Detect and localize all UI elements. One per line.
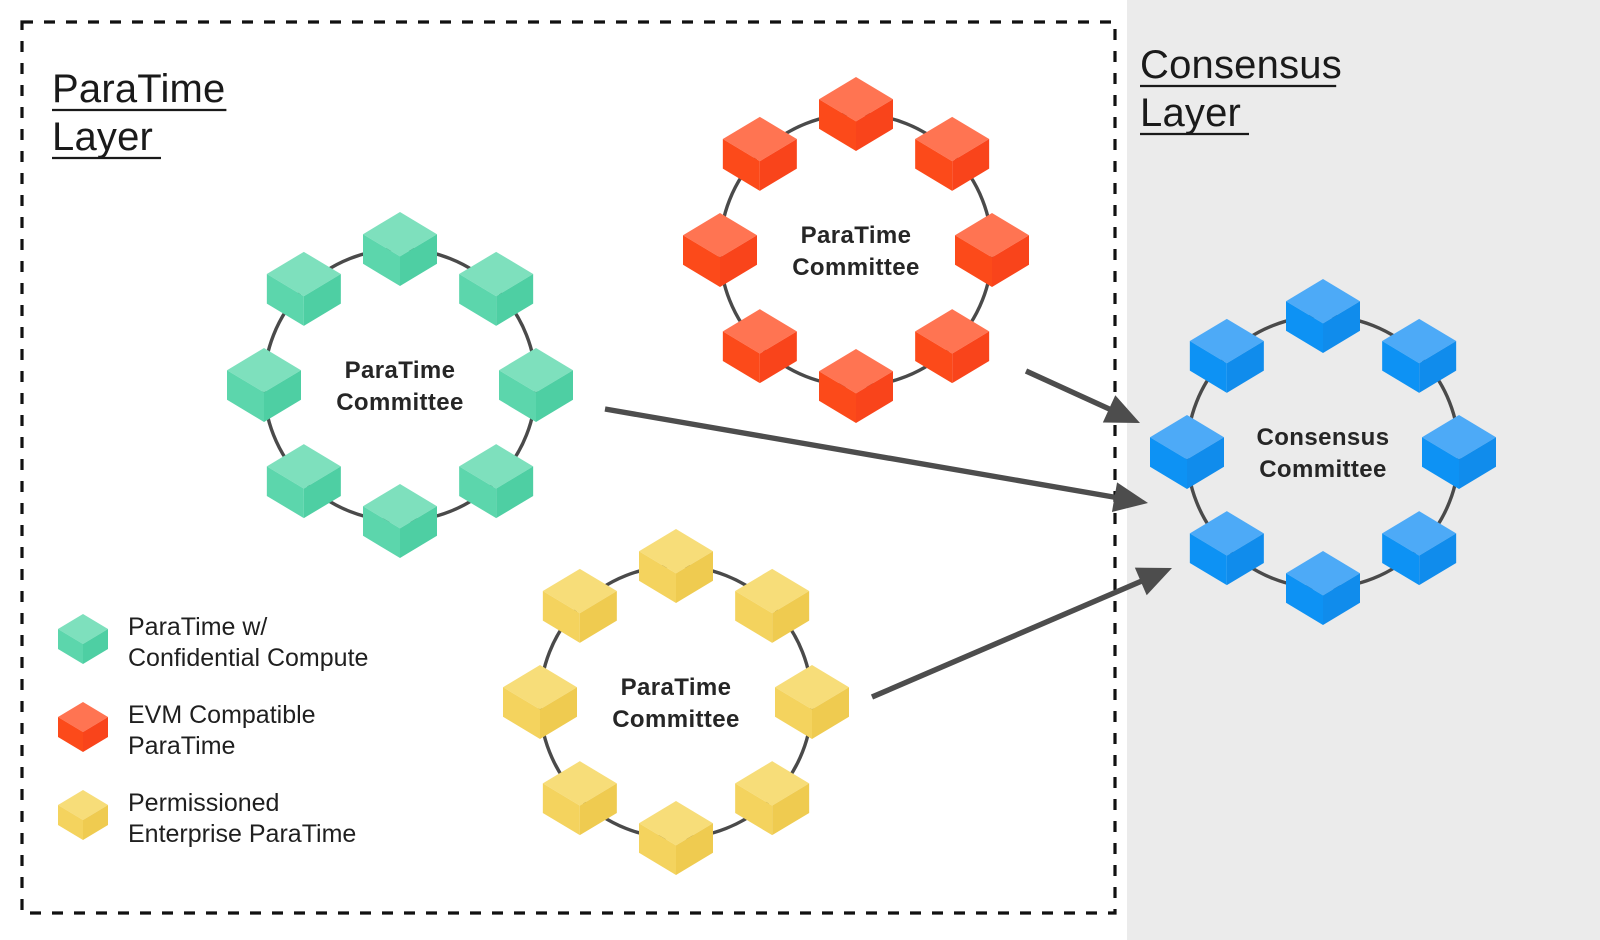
committee-node-cube [639, 801, 713, 875]
committee-node-cube [639, 529, 713, 603]
committee-node-cube [363, 212, 437, 286]
committee-label-consensus: Committee [1259, 456, 1387, 483]
committee-node-cube [459, 252, 533, 326]
committee-paratime-confidential: ParaTimeCommittee [227, 212, 573, 558]
consensus-layer-title-line: Layer [1140, 91, 1241, 135]
oasis-network-architecture-diagram: ParaTimeLayerConsensusLayer ParaTimeComm… [0, 0, 1600, 940]
legend-confidential-label: ParaTime w/ [128, 613, 267, 641]
legend-evm-swatch [58, 702, 108, 752]
legend: ParaTime w/Confidential ComputeEVM Compa… [58, 613, 368, 848]
legend-permissioned: PermissionedEnterprise ParaTime [58, 789, 356, 848]
committee-label-paratime-evm: ParaTime [801, 222, 912, 249]
arrows [605, 371, 1172, 697]
committee-label-paratime-permissioned: ParaTime [621, 674, 732, 701]
committee-label-paratime-evm: Committee [792, 254, 920, 281]
paratime-layer-title: ParaTimeLayer [52, 67, 226, 159]
legend-permissioned-label: Enterprise ParaTime [128, 820, 356, 848]
committee-label-paratime-confidential: ParaTime [345, 357, 456, 384]
consensus-layer-title-line: Consensus [1140, 43, 1342, 87]
legend-evm: EVM CompatibleParaTime [58, 701, 316, 760]
arrow-permissioned-to-consensus-shaft [872, 580, 1144, 697]
committee-node-cube [499, 348, 573, 422]
committee-node-cube [723, 117, 797, 191]
committee-paratime-evm: ParaTimeCommittee [683, 77, 1029, 423]
legend-confidential-swatch [58, 614, 108, 664]
committee-node-cube [363, 484, 437, 558]
committee-node-cube [915, 117, 989, 191]
committee-node-cube [227, 348, 301, 422]
arrow-confidential-to-consensus [605, 409, 1148, 512]
committee-node-cube [543, 761, 617, 835]
committee-node-cube [459, 444, 533, 518]
legend-permissioned-label: Permissioned [128, 789, 279, 817]
arrow-evm-to-consensus [1026, 371, 1140, 423]
legend-confidential-label: Confidential Compute [128, 644, 368, 672]
legend-evm-label: EVM Compatible [128, 701, 316, 729]
committee-node-cube [775, 665, 849, 739]
legend-confidential: ParaTime w/Confidential Compute [58, 613, 368, 672]
committee-label-paratime-confidential: Committee [336, 389, 464, 416]
committee-paratime-permissioned: ParaTimeCommittee [503, 529, 849, 875]
arrow-evm-to-consensus-shaft [1026, 371, 1113, 411]
committee-label-consensus: Consensus [1257, 424, 1390, 451]
committee-node-cube [503, 665, 577, 739]
committee-node-cube [723, 309, 797, 383]
committee-node-cube [735, 569, 809, 643]
arrow-confidential-to-consensus-shaft [605, 409, 1118, 498]
committee-node-cube [955, 213, 1029, 287]
committee-node-cube [683, 213, 757, 287]
legend-permissioned-swatch [58, 790, 108, 840]
committee-node-cube [735, 761, 809, 835]
legend-evm-label: ParaTime [128, 732, 235, 760]
committee-node-cube [819, 77, 893, 151]
committee-node-cube [915, 309, 989, 383]
diagram-canvas: ParaTimeLayerConsensusLayer ParaTimeComm… [0, 0, 1600, 940]
committee-node-cube [267, 444, 341, 518]
paratime-layer-title-line: Layer [52, 115, 153, 159]
committee-node-cube [267, 252, 341, 326]
committee-node-cube [543, 569, 617, 643]
committee-label-paratime-permissioned: Committee [612, 706, 740, 733]
paratime-layer-title-line: ParaTime [52, 67, 226, 111]
committee-node-cube [819, 349, 893, 423]
